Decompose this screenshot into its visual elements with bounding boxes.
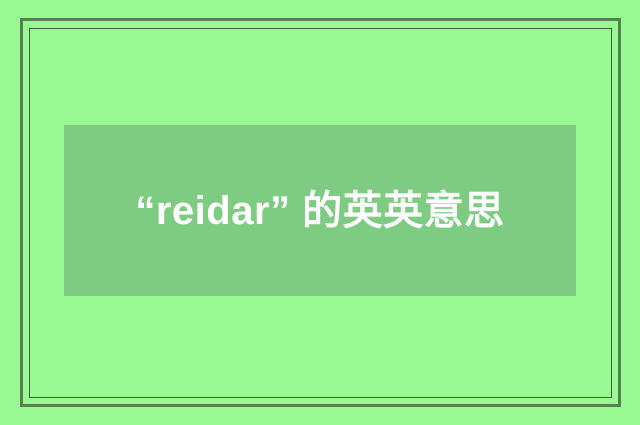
title-panel: “reidar” 的英英意思 (64, 125, 576, 296)
page-canvas: “reidar” 的英英意思 (0, 0, 640, 425)
page-title: “reidar” 的英英意思 (135, 182, 504, 240)
